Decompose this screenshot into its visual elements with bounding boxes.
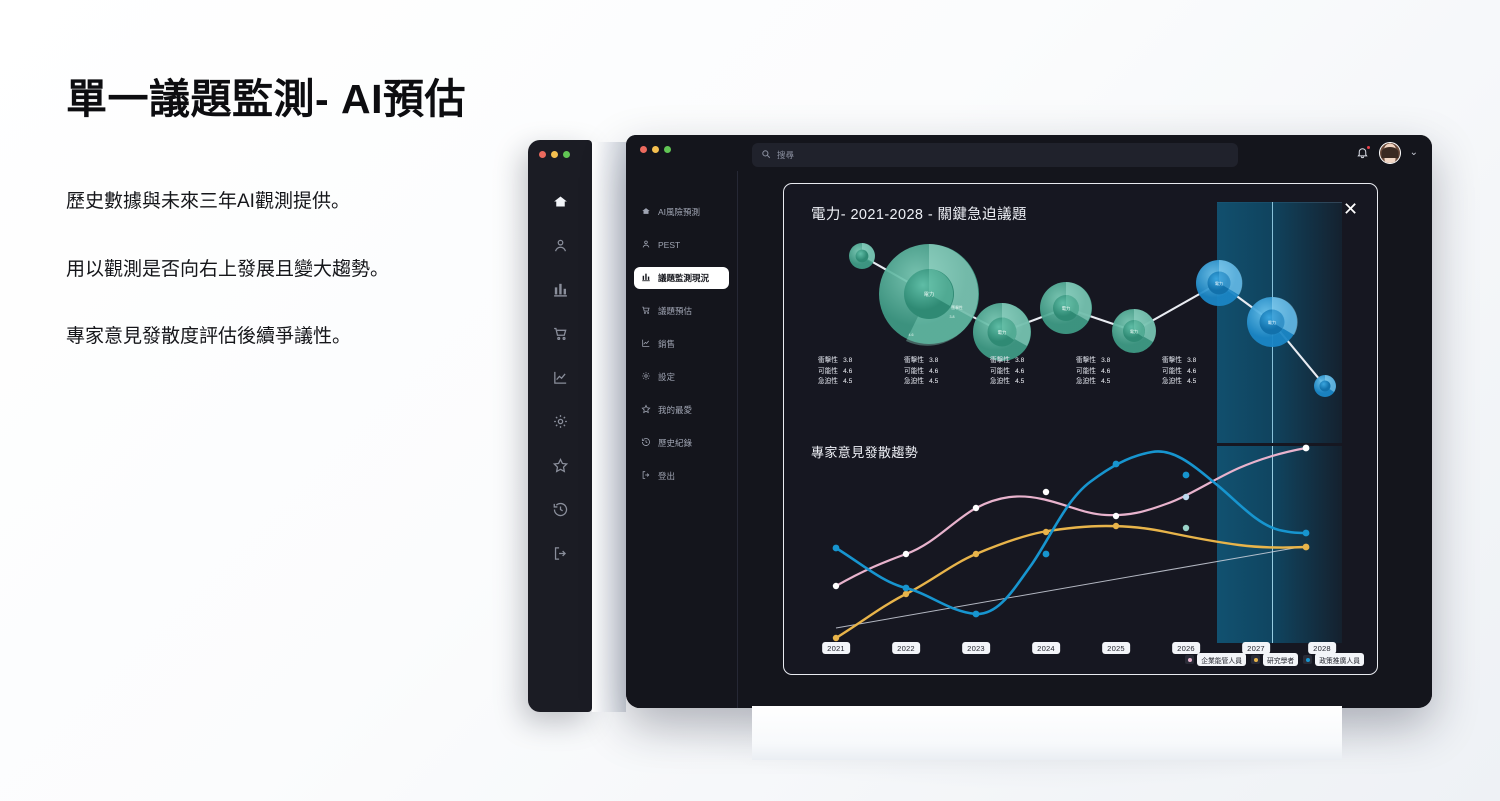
metric-row: 可能性4.6 [990,367,1054,378]
sidebar-item-issue-forecast[interactable]: 議題預估 [634,300,729,322]
sidebar-item-label: PEST [658,240,680,250]
sidebar-item-label: 議題預估 [658,305,692,317]
metric-key: 可能性 [990,367,1010,378]
datapoint [1043,489,1049,495]
metric-value: 4.5 [929,377,938,388]
metric-value: 3.8 [929,356,938,367]
legend-item[interactable]: 企業能管人員 [1185,653,1246,666]
series-line-pink [836,448,1306,586]
bubble-chart: 電力 衝擊性 3.8 4.6 電力 [784,184,1378,444]
year-tick: 2024 [1032,642,1060,654]
rail-logout-icon[interactable] [549,542,571,564]
metric-key: 衝擊性 [990,356,1010,367]
svg-text:電力: 電力 [1130,328,1138,334]
notification-badge [1366,145,1371,150]
svg-text:電力: 電力 [1268,319,1276,326]
metric-value: 3.8 [1187,356,1196,367]
metric-row: 急迫性4.5 [1162,377,1226,388]
year-tick: 2023 [962,642,990,654]
metric-key: 可能性 [818,367,838,378]
bubble-2022: 電力 衝擊性 3.8 4.6 [879,244,979,346]
metric-value: 4.6 [929,367,938,378]
sidebar-item-ai-risk[interactable]: AI風險預測 [634,201,729,223]
metric-row: 可能性4.6 [1076,367,1140,378]
rail-line-chart-icon[interactable] [549,366,571,388]
datapoint [973,505,979,511]
bubble-2026: 電力 [1196,260,1242,306]
chart-legend: 企業能管人員 研究學者 政策推廣人員 [1185,653,1364,666]
metric-row: 急迫性4.5 [904,377,968,388]
metric-key: 急迫性 [1162,377,1182,388]
metric-value: 4.6 [1101,367,1110,378]
datapoint [903,551,909,557]
metric-row: 衝擊性3.8 [1162,356,1226,367]
sidebar-item-label: 銷售 [658,338,675,350]
metric-value: 4.5 [1015,377,1024,388]
metric-row: 可能性4.6 [1162,367,1226,378]
sidebar: AI風險預測 PEST 議題監測現況 議題預估 銷售 設定 [626,171,738,708]
legend-label: 企業能管人員 [1197,653,1246,666]
minimize-dot[interactable] [551,151,558,158]
datapoint [903,591,909,597]
metric-columns: 衝擊性3.8 可能性4.6 急迫性4.5 衝擊性3.8 可能性4.6 急迫性4.… [818,356,1238,388]
year-tick: 2021 [822,642,850,654]
datapoint [1183,494,1189,500]
bubble-2028 [1314,375,1336,397]
metric-row: 可能性4.6 [818,367,882,378]
metric-key: 衝擊性 [904,356,924,367]
datapoint [833,635,839,641]
datapoint [903,585,910,592]
svg-text:電力: 電力 [924,290,934,298]
legend-swatch-icon [1251,655,1260,664]
metric-key: 衝擊性 [1162,356,1182,367]
issue-detail-panel: 電力- 2021-2028 - 關鍵急迫議題 ✕ [783,183,1378,675]
star-icon [641,404,651,416]
laptop-base [752,706,1342,760]
bubble-2023: 電力 [973,303,1031,361]
sidebar-item-history[interactable]: 歷史紀錄 [634,432,729,454]
close-dot[interactable] [640,146,647,153]
metric-key: 可能性 [1076,367,1096,378]
datapoint [1183,525,1189,531]
metric-key: 急迫性 [990,377,1010,388]
rail-bar-chart-icon[interactable] [549,278,571,300]
search-input[interactable]: 搜尋 [752,143,1238,167]
datapoint [1303,445,1310,452]
metric-value: 4.6 [1187,367,1196,378]
metric-row: 可能性4.6 [904,367,968,378]
bar-chart-icon [641,272,651,284]
search-icon [761,146,771,164]
rail-home-icon[interactable] [549,190,571,212]
metric-value: 4.6 [1015,367,1024,378]
metric-value: 4.5 [1187,377,1196,388]
maximize-dot[interactable] [563,151,570,158]
expert-divergence-line-chart [784,442,1378,647]
metric-row: 衝擊性3.8 [1076,356,1140,367]
content-area: 電力- 2021-2028 - 關鍵急迫議題 ✕ [738,171,1432,708]
legend-item[interactable]: 研究學者 [1251,653,1298,666]
legend-swatch-icon [1185,655,1194,664]
metric-row: 急迫性4.5 [1076,377,1140,388]
sidebar-item-label: AI風險預測 [658,206,700,218]
search-placeholder: 搜尋 [777,149,794,161]
metric-key: 衝擊性 [1076,356,1096,367]
year-tick: 2022 [892,642,920,654]
metric-value: 4.5 [843,377,852,388]
sidebar-item-label: 議題監測現況 [658,272,709,284]
svg-text:4.6: 4.6 [909,333,914,337]
metric-value: 4.6 [843,367,852,378]
svg-text:電力: 電力 [998,329,1007,336]
sidebar-item-label: 我的最愛 [658,404,692,416]
datapoint [1303,544,1310,551]
sidebar-item-logout[interactable]: 登出 [634,465,729,487]
rail-traffic-lights [539,151,570,158]
metric-row: 急迫性4.5 [990,377,1054,388]
sidebar-item-label: 設定 [658,371,675,383]
datapoint [1303,530,1310,537]
datapoint [1113,461,1120,468]
topbar-actions: ⌄ [1356,142,1418,164]
legend-item[interactable]: 政策推廣人員 [1303,653,1364,666]
bubble-2024: 電力 [1040,282,1092,334]
metric-row: 衝擊性3.8 [990,356,1054,367]
metric-key: 急迫性 [818,377,838,388]
bell-icon[interactable] [1356,146,1370,160]
svg-text:3.8: 3.8 [950,315,955,319]
history-icon [641,437,651,449]
app-topbar: 搜尋 ⌄ [626,135,1432,171]
metric-key: 可能性 [1162,367,1182,378]
datapoint [973,551,979,557]
gear-icon [641,371,651,383]
sidebar-item-issue-monitor[interactable]: 議題監測現況 [634,267,729,289]
sidebar-item-sales[interactable]: 銷售 [634,333,729,355]
metric-value: 3.8 [1101,356,1110,367]
minimize-dot[interactable] [652,146,659,153]
metric-key: 急迫性 [1076,377,1096,388]
metric-key: 急迫性 [904,377,924,388]
svg-text:電力: 電力 [1215,280,1223,286]
datapoint [1183,472,1190,479]
window-gap [592,142,626,712]
datapoint [1113,513,1119,519]
close-dot[interactable] [539,151,546,158]
legend-label: 研究學者 [1263,653,1298,666]
metric-value: 4.5 [1101,377,1110,388]
metric-value: 3.8 [843,356,852,367]
sidebar-item-settings[interactable]: 設定 [634,366,729,388]
legend-label: 政策推廣人員 [1315,653,1364,666]
sidebar-item-favorites[interactable]: 我的最愛 [634,399,729,421]
home-icon [641,206,651,218]
svg-text:衝擊性: 衝擊性 [951,305,963,310]
cart-icon [641,305,651,317]
datapoint [1113,523,1119,529]
rail-history-icon[interactable] [549,498,571,520]
rail-gear-icon[interactable] [549,410,571,432]
datapoint [973,611,980,618]
logout-icon [641,470,651,482]
year-tick: 2025 [1102,642,1130,654]
datapoint [1043,551,1050,558]
device-stage: 搜尋 ⌄ AI風險預測 PEST 議題監 [0,0,1500,801]
metric-group-4: 衝擊性3.8 可能性4.6 急迫性4.5 [1076,356,1140,388]
rail-user-icon[interactable] [549,234,571,256]
chevron-down-icon[interactable]: ⌄ [1410,148,1418,158]
user-icon [641,239,651,251]
metric-group-2: 衝擊性3.8 可能性4.6 急迫性4.5 [904,356,968,388]
datapoint [833,545,840,552]
metric-row: 衝擊性3.8 [904,356,968,367]
bubble-2021 [849,243,875,269]
collapsed-rail-window [528,140,592,712]
metric-group-5: 衝擊性3.8 可能性4.6 急迫性4.5 [1162,356,1226,388]
avatar[interactable] [1379,142,1401,164]
line-chart-icon [641,338,651,350]
metric-group-1: 衝擊性3.8 可能性4.6 急迫性4.5 [818,356,882,388]
datapoint [1043,529,1049,535]
rail-icon-list [528,190,592,564]
sidebar-item-pest[interactable]: PEST [634,234,729,256]
metric-row: 衝擊性3.8 [818,356,882,367]
svg-text:電力: 電力 [1062,305,1071,312]
legend-swatch-icon [1303,655,1312,664]
metric-key: 衝擊性 [818,356,838,367]
metric-group-3: 衝擊性3.8 可能性4.6 急迫性4.5 [990,356,1054,388]
window-traffic-lights [640,146,671,153]
rail-star-icon[interactable] [549,454,571,476]
metric-key: 可能性 [904,367,924,378]
sidebar-item-label: 歷史紀錄 [658,437,692,449]
maximize-dot[interactable] [664,146,671,153]
laptop-screen: 搜尋 ⌄ AI風險預測 PEST 議題監 [626,135,1432,708]
series-line-yellow [836,526,1306,638]
metric-row: 急迫性4.5 [818,377,882,388]
bubble-2025: 電力 [1112,309,1156,353]
sidebar-item-label: 登出 [658,470,675,482]
metric-value: 3.8 [1015,356,1024,367]
rail-cart-icon[interactable] [549,322,571,344]
bubble-2027: 電力 [1247,297,1298,347]
datapoint [833,583,839,589]
